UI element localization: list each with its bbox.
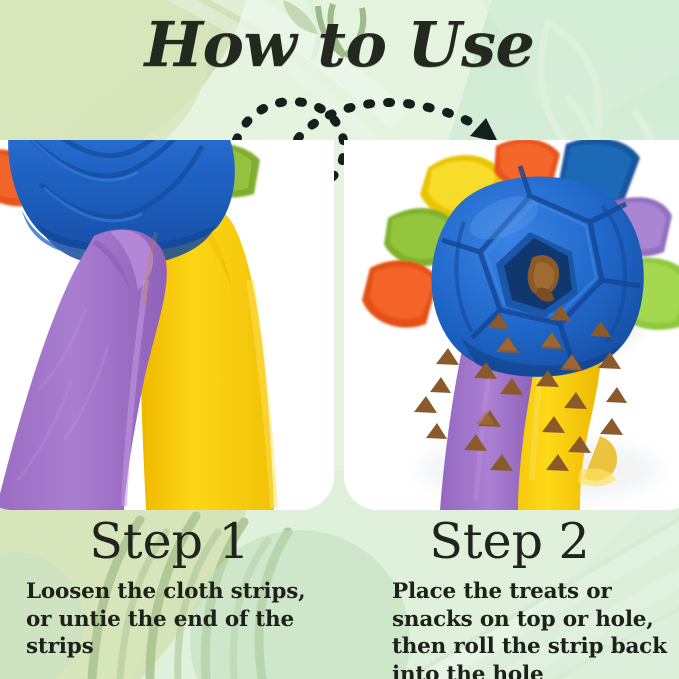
step-1-photo — [0, 140, 334, 510]
step-1-photo-panel — [0, 140, 334, 510]
step-1-heading: Step 1 — [0, 516, 339, 567]
step-2-photo-panel — [344, 140, 679, 510]
step-1-description: Loosen the cloth strips, or untie the en… — [26, 578, 326, 661]
how-to-use-infographic: How to Use — [0, 0, 679, 679]
page-title: How to Use — [0, 12, 679, 77]
step-2-heading: Step 2 — [340, 516, 679, 567]
step-2-description: Place the treats or snacks on top or hol… — [392, 578, 674, 679]
step-2-photo — [344, 140, 679, 510]
